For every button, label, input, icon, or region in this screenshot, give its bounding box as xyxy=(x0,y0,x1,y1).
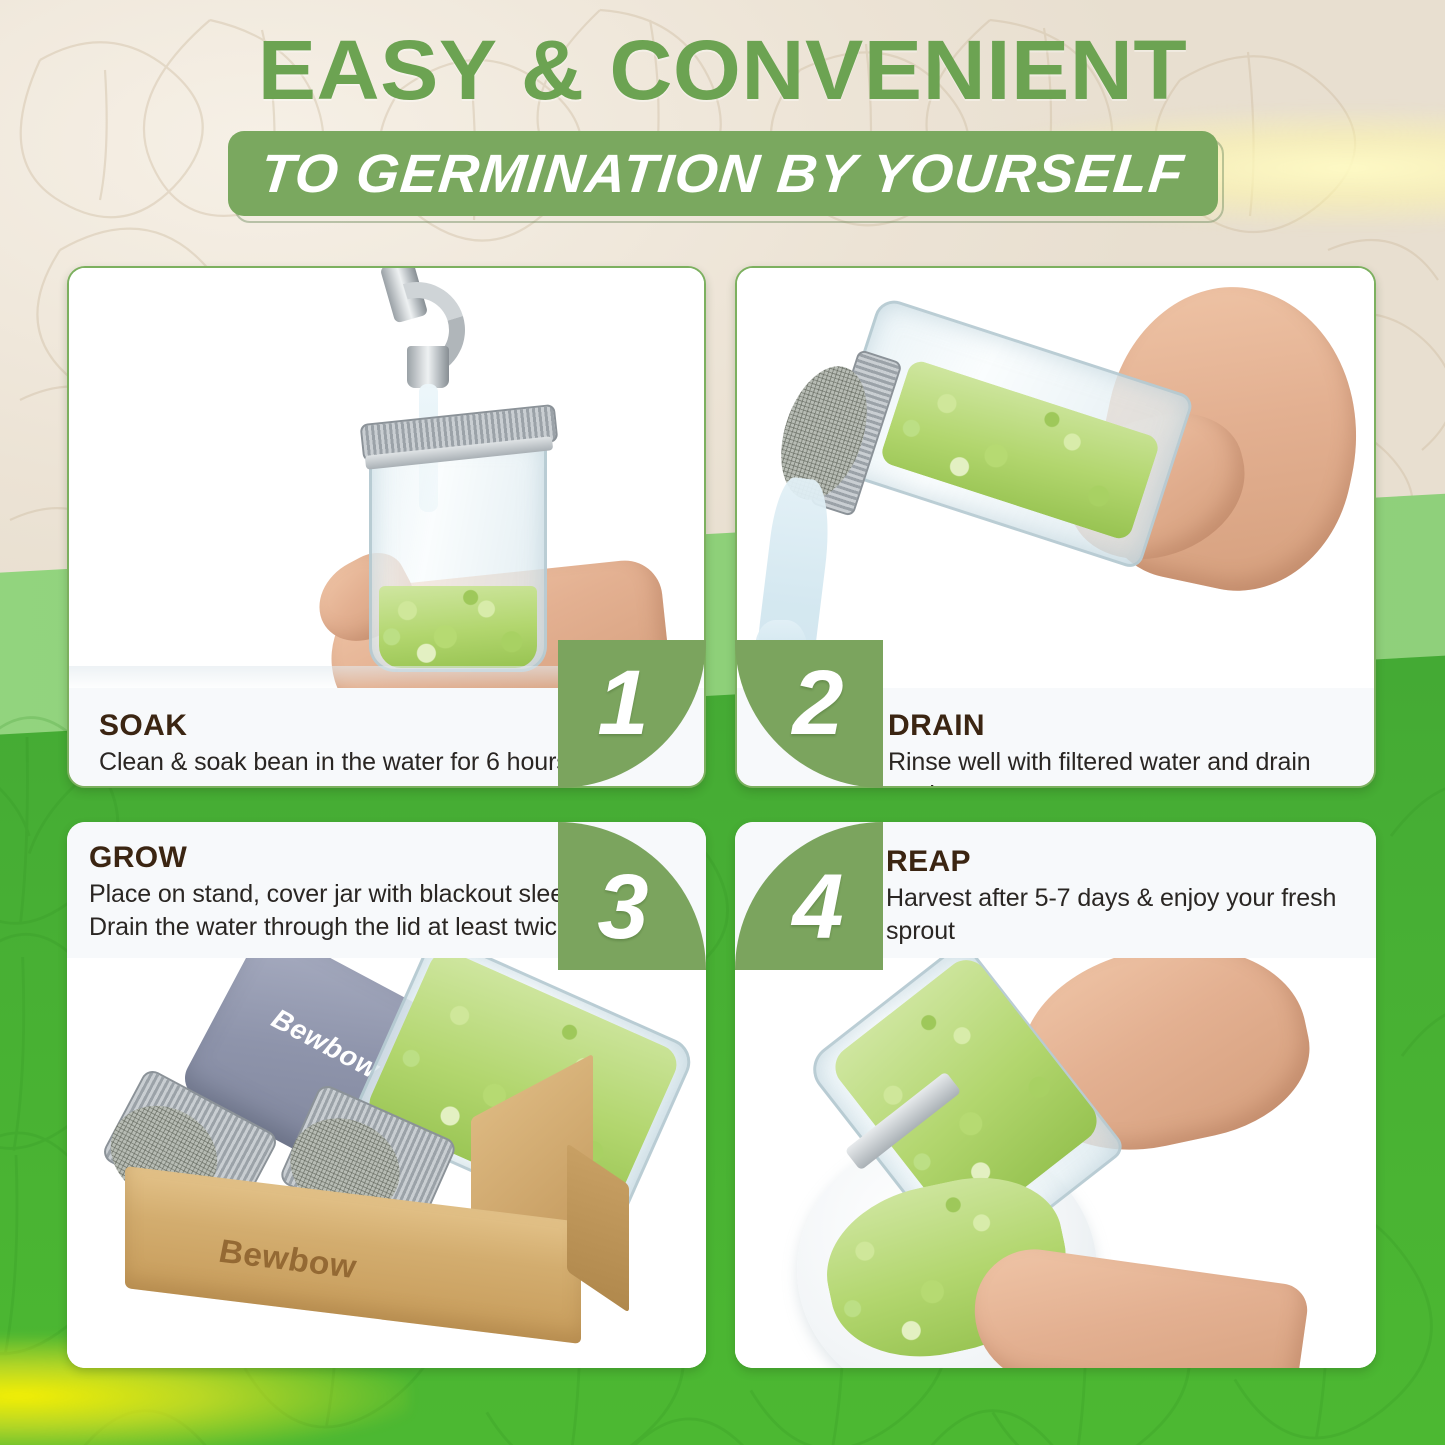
scene-grow: Bewbow Bewbow xyxy=(67,958,706,1368)
step-photo-reap xyxy=(735,958,1376,1368)
banner-fill: TO GERMINATION BY YOURSELF xyxy=(228,131,1218,216)
sprouts-in-jar xyxy=(379,586,537,668)
step-photo-soak xyxy=(69,268,704,688)
headline-banner: TO GERMINATION BY YOURSELF xyxy=(228,131,1218,216)
infographic-poster: EASY & CONVENIENT TO GERMINATION BY YOUR… xyxy=(0,0,1445,1445)
headline-secondary: TO GERMINATION BY YOURSELF xyxy=(258,143,1188,205)
step-body: Rinse well with filtered water and drain… xyxy=(888,746,1348,789)
step-photo-drain xyxy=(737,268,1374,688)
scene-soak xyxy=(69,268,704,688)
step-title: REAP xyxy=(886,846,1352,878)
headline-primary: EASY & CONVENIENT xyxy=(0,28,1445,112)
step-title: DRAIN xyxy=(888,710,1348,742)
step-body: Harvest after 5-7 days & enjoy your fres… xyxy=(886,882,1352,948)
scene-reap xyxy=(735,958,1376,1368)
scene-drain xyxy=(737,268,1374,688)
step-photo-grow: Bewbow Bewbow xyxy=(67,958,706,1368)
faucet-spout xyxy=(407,346,449,388)
hand-icon-lower xyxy=(965,1242,1310,1368)
